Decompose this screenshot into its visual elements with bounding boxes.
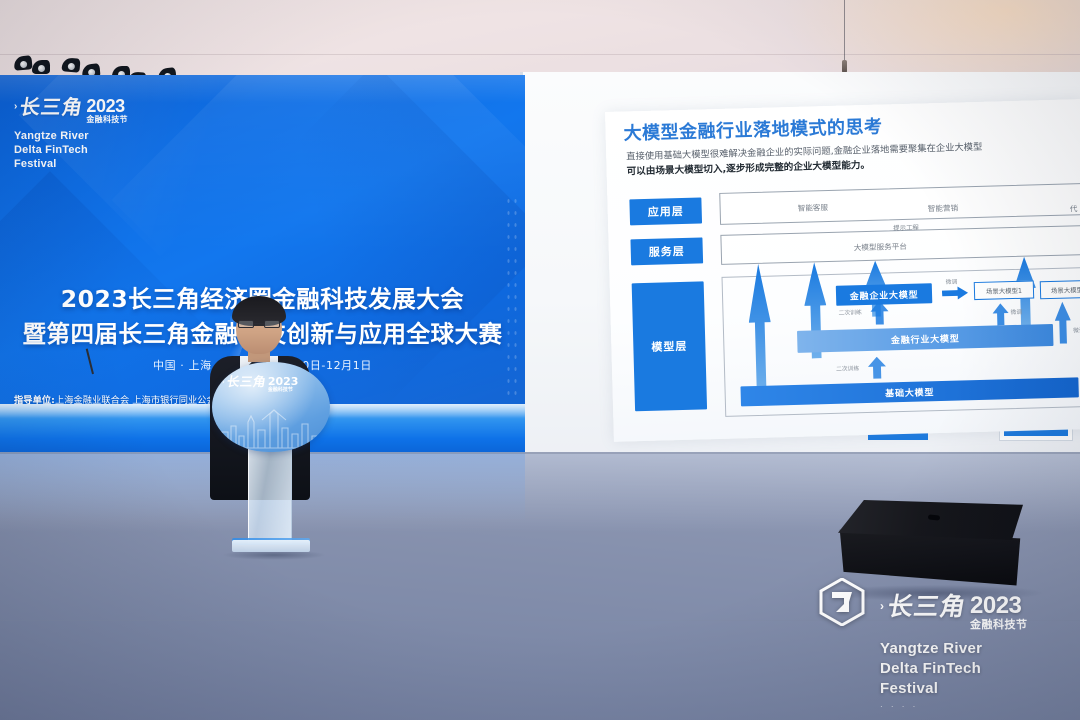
hexagon-brand-icon	[818, 578, 866, 626]
bar-enterprise-model: 金融企业大模型	[836, 283, 933, 306]
arrow-note-secondary-training-1: 二次训练	[836, 363, 859, 373]
logo-year: 2023	[86, 97, 128, 115]
service-item-platform: 大模型服务平台	[854, 241, 907, 253]
layer-tag-service: 服务层	[630, 237, 703, 265]
logo-chinese-subtitle: 金融科技节	[86, 116, 128, 124]
layer-tag-application: 应用层	[629, 197, 702, 225]
logo-en-line-2: Delta FinTech	[14, 143, 164, 157]
logo-en-line-1: Yangtze River	[14, 129, 164, 143]
arrow-note-finetune-3: 微调	[1073, 325, 1080, 334]
logo-arrow-icon: ›	[14, 97, 17, 117]
app-item-smart-service: 智能客服	[798, 202, 829, 214]
podium-logo-chinese-mark: 长三角	[226, 376, 267, 389]
podium: › 长三角 2023 金融科技节	[212, 362, 332, 562]
mini-box-scenario-model-2: 场景大模型2	[1040, 280, 1080, 300]
layer-tag-model: 模型层	[632, 281, 707, 411]
truss-spotlight	[61, 57, 80, 73]
app-item-smart-marketing: 智能营销	[928, 202, 959, 214]
podium-logo-arrow-icon: ›	[222, 376, 225, 388]
podium-logo-subtitle: 金融科技节	[268, 388, 299, 393]
speaker-glasses	[238, 320, 280, 328]
watermark-text: › 长三角 2023 金融科技节 Yangtze River Delta Fin…	[880, 594, 1080, 711]
watermark-arrow-icon: ›	[880, 594, 884, 619]
watermark-en-line-1: Yangtze River	[880, 639, 1080, 659]
watermark-year: 2023	[970, 594, 1028, 618]
presentation-slide: 大模型金融行业落地模式的思考 直接使用基础大模型很难解决金融企业的实际问题,金融…	[605, 99, 1080, 442]
slide-title: 大模型金融行业落地模式的思考	[623, 113, 883, 146]
watermark-en-line-2: Delta FinTech	[880, 659, 1080, 679]
podium-base	[232, 540, 310, 552]
app-item-overflow: 代	[1070, 203, 1078, 214]
podium-logo-year: 2023	[268, 376, 299, 387]
podium-logo: › 长三角 2023 金融科技节	[222, 376, 320, 393]
logo-chinese-mark: 长三角	[19, 97, 85, 117]
logo-en-line-3: Festival	[14, 157, 164, 171]
arrow-note-finetune-2: 微调	[1010, 307, 1022, 316]
watermark-chinese-mark: 长三角	[886, 594, 968, 619]
service-note-prompt-engineering: 提示工程	[893, 223, 919, 233]
hanging-wire	[844, 0, 845, 60]
arrow-note-secondary-training-2: 二次训练	[838, 307, 861, 317]
watermark-chinese-subtitle: 金融科技节	[970, 620, 1028, 631]
podium-skyline-graphic	[218, 406, 324, 450]
conference-stage-photo: › 长三角 2023 金融科技节 Yangtze River Delta Fin…	[0, 0, 1080, 720]
watermark-en-line-3: Festival	[880, 679, 1080, 699]
layer-box-application	[719, 183, 1080, 225]
podium-front-panel: › 长三角 2023 金融科技节	[212, 362, 330, 452]
floor-front-edge	[0, 452, 1080, 454]
mini-box-scenario-model-1: 场景大模型1	[974, 280, 1034, 300]
ceiling-seam	[0, 54, 1080, 55]
truss-spotlight	[32, 60, 50, 74]
event-location: 中国 · 上海	[153, 359, 212, 372]
watermark-dots: · · · ·	[880, 702, 1080, 711]
festival-logo: › 长三角 2023 金融科技节 Yangtze River Delta Fin…	[14, 97, 164, 171]
podium-stem	[248, 436, 292, 544]
arrow-note-finetune: 微调	[946, 277, 958, 286]
watermark-logo: › 长三角 2023 金融科技节 Yangtze River Delta Fin…	[818, 578, 1078, 710]
